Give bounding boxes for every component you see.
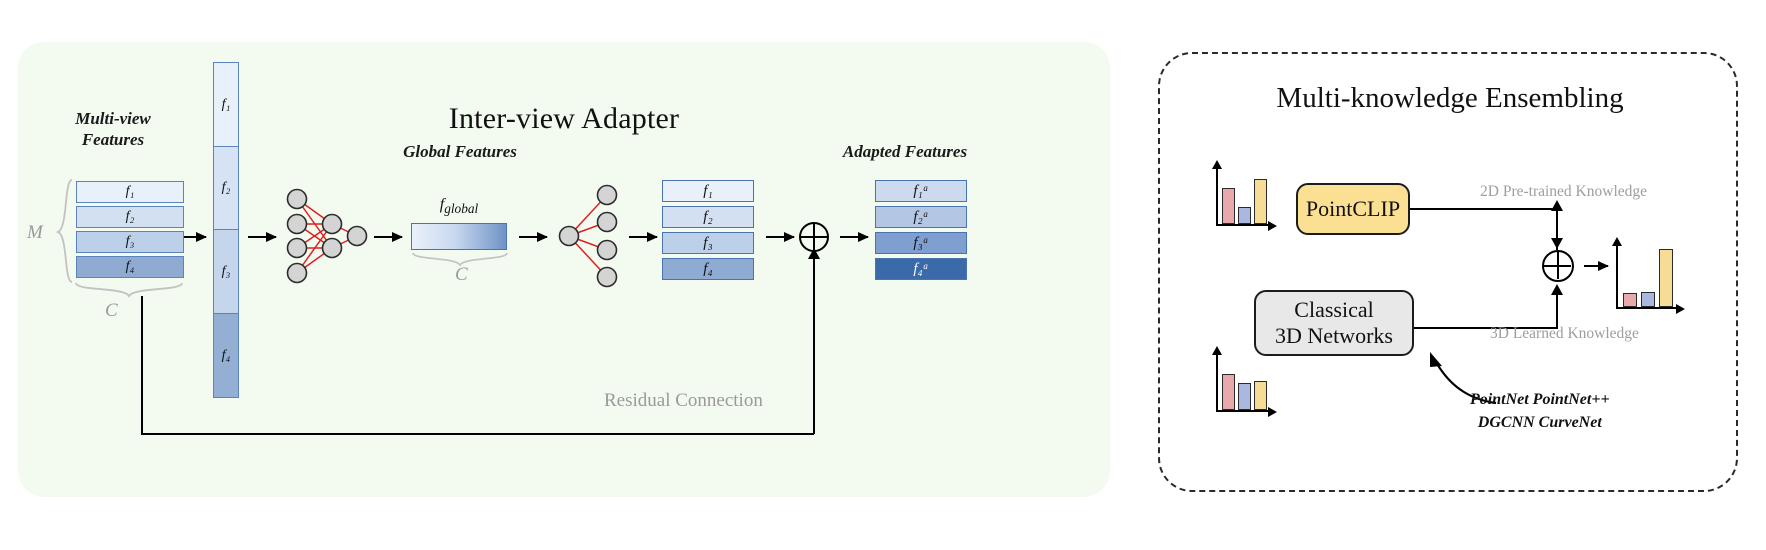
- multi-view-feature-stack: f₁ f₂ f₃ f₄: [76, 181, 184, 278]
- mlp-compress-network: [283, 186, 368, 286]
- knowledge-3d-label: 3D Learned Knowledge: [1490, 325, 1639, 343]
- expanded-feature-row: f₁: [662, 180, 754, 202]
- concat-cell-label: f₃: [222, 264, 231, 280]
- m-brace-icon: [54, 178, 76, 286]
- adapted-features-label: Adapted Features: [810, 141, 1000, 162]
- concat-cell: f₂: [213, 146, 239, 231]
- arrow-global-to-expand: [519, 236, 547, 238]
- arrow-features-to-sum: [766, 236, 794, 238]
- residual-connection-label: Residual Connection: [604, 390, 763, 412]
- chart-y-arrowhead: [1612, 237, 1622, 246]
- multi-view-row: f₁: [76, 181, 184, 203]
- dimension-c-global-label: C: [455, 264, 468, 286]
- dimension-m-label: M: [27, 222, 43, 244]
- multi-view-row: f₂: [76, 206, 184, 228]
- chart-bar: [1254, 179, 1267, 224]
- arrowhead-up-3d: [1551, 284, 1563, 295]
- arrow-sum-to-adapted: [840, 236, 868, 238]
- chart-x-axis: [1216, 410, 1270, 412]
- adapted-feature-row: f₃ᵃ: [875, 232, 967, 254]
- mlp-expand-nodes: [560, 186, 617, 287]
- chart-x-arrowhead: [1676, 304, 1685, 314]
- chart-x-axis: [1616, 307, 1678, 309]
- concat-cell: f₁: [213, 62, 239, 147]
- chart-bar: [1623, 293, 1637, 307]
- global-feature-bar: [411, 223, 507, 250]
- chart-y-axis: [1216, 354, 1218, 412]
- chart-y-axis: [1616, 245, 1618, 309]
- multi-view-features-line2: Features: [82, 130, 144, 149]
- mlp-nodes: [288, 190, 367, 283]
- f-global-label: fglobal: [411, 196, 507, 217]
- chart-bar: [1238, 383, 1251, 410]
- global-features-label: Global Features: [381, 141, 539, 162]
- concat-cell-label: f₁: [222, 97, 231, 113]
- concat-cell-label: f₂: [222, 180, 231, 196]
- connector-classical-vertical: [1556, 293, 1558, 329]
- chart-x-axis: [1216, 224, 1270, 226]
- arrow-sum-to-output-chart: [1584, 265, 1608, 267]
- classical-label-line1: Classical: [1294, 297, 1373, 322]
- expanded-feature-row: f₂: [662, 206, 754, 228]
- adapted-feature-row: f₂ᵃ: [875, 206, 967, 228]
- chart-pointclip-input: [1208, 160, 1284, 232]
- connector-pointclip-vertical: [1556, 208, 1558, 242]
- arrowhead-down-2d: [1551, 238, 1563, 249]
- chart-bar: [1659, 249, 1673, 307]
- arrow-stack-to-vector: [184, 236, 206, 238]
- expanded-feature-row: f₃: [662, 232, 754, 254]
- classical-network-names: PointNet PointNet++ DGCNN CurveNet: [1470, 388, 1610, 434]
- multi-view-features-label: Multi-view Features: [38, 108, 188, 151]
- chart-bar: [1254, 381, 1267, 410]
- chart-y-arrowhead: [1212, 160, 1222, 169]
- adapted-feature-row: f₄ᵃ: [875, 258, 967, 280]
- chart-bar: [1222, 374, 1235, 410]
- pointclip-box[interactable]: PointCLIP: [1296, 183, 1410, 235]
- chart-x-arrowhead: [1268, 407, 1277, 417]
- chart-bar: [1238, 207, 1251, 224]
- arrow-vector-to-mlp: [248, 236, 276, 238]
- residual-arrow-up: [813, 258, 815, 434]
- chart-x-arrowhead: [1268, 221, 1277, 231]
- expanded-feature-row: f₄: [662, 258, 754, 280]
- chart-y-arrowhead: [1212, 346, 1222, 355]
- multi-view-features-line1: Multi-view: [75, 109, 151, 128]
- dimension-c-input-label: C: [105, 300, 118, 322]
- classical-label-line2: 3D Networks: [1275, 323, 1393, 348]
- multi-view-row: f₃: [76, 231, 184, 253]
- ensemble-sum-operator: [1542, 250, 1574, 282]
- arrow-expand-to-features: [629, 236, 657, 238]
- expanded-feature-column: f₁ f₂ f₃ f₄: [662, 180, 754, 280]
- chart-classical3d-input: [1208, 348, 1284, 420]
- knowledge-2d-label: 2D Pre-trained Knowledge: [1480, 183, 1647, 201]
- chart-ensembled-output: [1608, 235, 1694, 321]
- chart-bar: [1641, 292, 1655, 307]
- adapted-feature-row: f₁ᵃ: [875, 180, 967, 202]
- adapted-feature-column: f₁ᵃ f₂ᵃ f₃ᵃ f₄ᵃ: [875, 180, 967, 280]
- classical-3d-networks-box[interactable]: Classical 3D Networks: [1254, 290, 1414, 356]
- connector-pointclip-horizontal: [1410, 208, 1558, 210]
- network-names-line1: PointNet PointNet++: [1470, 391, 1610, 408]
- arrow-mlp-to-global: [374, 236, 402, 238]
- network-names-line2: DGCNN CurveNet: [1478, 414, 1602, 431]
- chart-y-axis: [1216, 168, 1218, 226]
- chart-bar: [1222, 188, 1235, 224]
- residual-connection-path: [141, 296, 814, 435]
- multi-view-row: f₄: [76, 256, 184, 278]
- multi-knowledge-ensembling-title: Multi-knowledge Ensembling: [1160, 82, 1740, 115]
- mlp-expand-network: [557, 181, 623, 291]
